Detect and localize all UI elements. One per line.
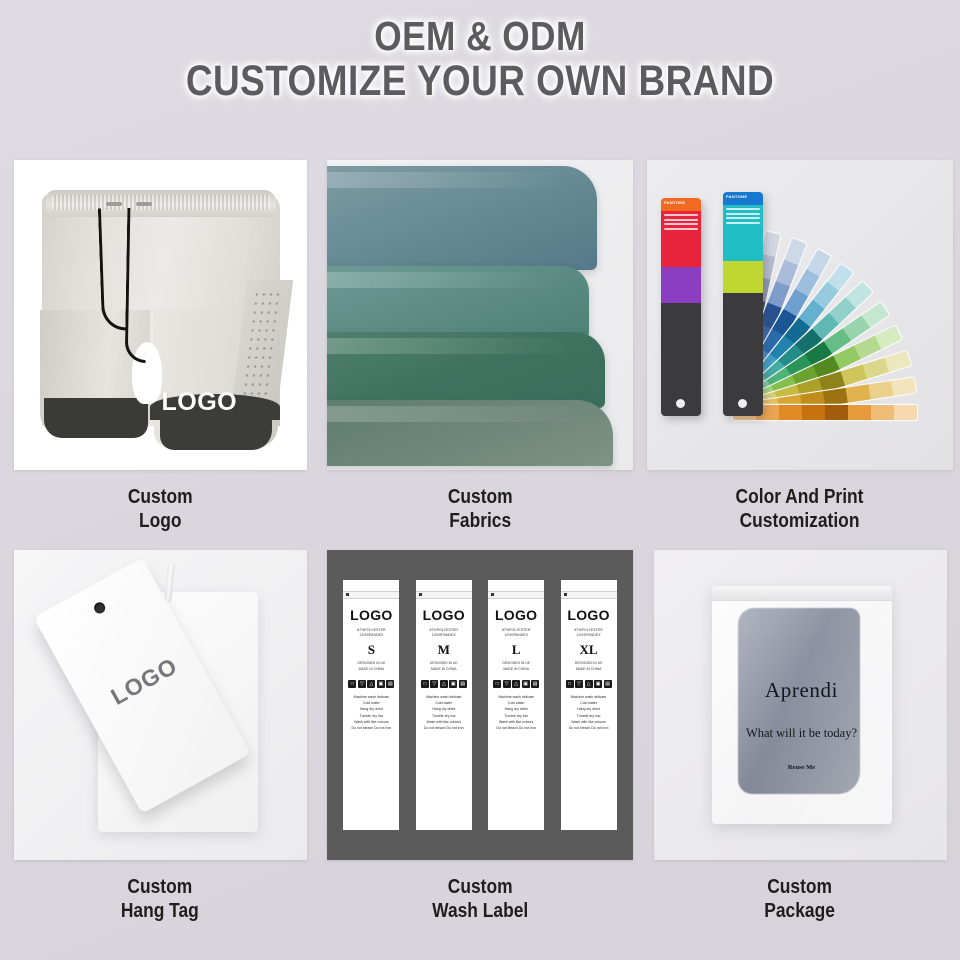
booklet-text-lines	[723, 205, 763, 227]
caption-custom-fabrics: Custom Fabrics	[448, 485, 513, 534]
caption-custom-hang-tag: Custom Hang Tag	[121, 875, 199, 924]
iron-icon: ▤	[459, 680, 467, 688]
do-not-bleach-icon: △	[512, 680, 520, 688]
caption-line1: Custom	[121, 875, 199, 899]
label-care-instructions: Machine wash delicateCold waterHang dry …	[424, 694, 464, 732]
label-origin: DESIGNED IN UKMADE IN CHINA	[358, 661, 386, 671]
wash-tub-icon: □	[566, 680, 574, 688]
do-not-bleach-icon: △	[585, 680, 593, 688]
label-care-symbols: □▽△▣▤	[493, 680, 539, 688]
caption-color-and-print: Color And Print Customization	[736, 485, 864, 534]
label-logo: LOGO	[495, 607, 537, 623]
fabric-stack-illustration	[327, 160, 633, 470]
label-size: L	[512, 642, 521, 658]
custom-fabrics-image	[327, 160, 633, 470]
label-logo: LOGO	[423, 607, 465, 623]
hand-wash-icon: ▽	[358, 680, 366, 688]
frosted-film-overlay	[712, 586, 892, 824]
custom-logo-image: LOGO	[14, 160, 307, 470]
caption-line2: Wash Label	[432, 899, 528, 923]
label-origin: DESIGNED IN UKMADE IN CHINA	[575, 661, 603, 671]
hand-wash-icon: ▽	[503, 680, 511, 688]
hand-wash-icon: ▽	[430, 680, 438, 688]
label-fiber-content: 87%POLYESTER13%SPANDEX	[574, 628, 603, 638]
label-top-bar	[343, 591, 399, 599]
pantone-booklet-warm: PANTONE	[661, 198, 701, 416]
label-care-symbols: □▽△▣▤	[421, 680, 467, 688]
booklet-band-purple	[661, 267, 701, 303]
label-origin: DESIGNED IN UKMADE IN CHINA	[430, 661, 458, 671]
label-logo: LOGO	[567, 607, 609, 623]
label-origin: DESIGNED IN UKMADE IN CHINA	[502, 661, 530, 671]
wash-label-illustration: LOGO87%POLYESTER13%SPANDEXSDESIGNED IN U…	[327, 550, 633, 860]
fabric-fold-2	[327, 266, 589, 338]
wash-label-l: LOGO87%POLYESTER13%SPANDEXLDESIGNED IN U…	[488, 580, 544, 830]
caption-custom-package: Custom Package	[765, 875, 836, 924]
hang-tag-hole	[91, 601, 106, 616]
booklet-cap-blue: PANTONE	[723, 192, 763, 205]
shorts-waistband	[46, 190, 276, 217]
label-care-instructions: Machine wash delicateCold waterHang dry …	[569, 694, 609, 732]
caption-line1: Custom	[765, 875, 836, 899]
shorts-logo-print: LOGO	[162, 388, 238, 417]
caption-line2: Customization	[736, 509, 864, 533]
booklet-cap-orange: PANTONE	[661, 198, 701, 211]
wash-tub-icon: □	[348, 680, 356, 688]
oem-odm-banner: OEM & ODM CUSTOMIZE YOUR OWN BRAND	[0, 0, 960, 960]
label-fiber-content: 87%POLYESTER13%SPANDEX	[357, 628, 386, 638]
pantone-wordmark: PANTONE	[723, 192, 763, 199]
shorts-drawstring-left	[97, 208, 126, 332]
booklet-hinge-dot	[738, 399, 747, 408]
label-size: XL	[580, 642, 598, 658]
pantone-booklet-cool: PANTONE	[723, 192, 763, 416]
label-care-instructions: Machine wash delicateCold waterHang dry …	[496, 694, 536, 732]
booklet-band-cyan	[723, 205, 763, 261]
color-print-image: PANTONE PANTONE	[647, 160, 953, 470]
label-fiber-content: 87%POLYESTER13%SPANDEX	[502, 628, 531, 638]
wash-label-m: LOGO87%POLYESTER13%SPANDEXMDESIGNED IN U…	[416, 580, 472, 830]
package-reuse-text: Reuse Me	[712, 764, 892, 771]
shorts-illustration: LOGO	[14, 160, 307, 470]
grid-cell-custom-fabrics: Custom Fabrics	[320, 160, 640, 550]
poly-mailer-bag: Aprendi What will it be today? Reuse Me	[712, 586, 892, 824]
booklet-body-dark	[661, 303, 701, 416]
pantone-fan-deck	[733, 188, 949, 420]
label-top-bar	[561, 591, 617, 599]
iron-icon: ▤	[386, 680, 394, 688]
do-not-tumble-dry-icon: ▣	[377, 680, 385, 688]
iron-icon: ▤	[604, 680, 612, 688]
shorts-liner-left	[44, 398, 148, 438]
caption-line1: Custom	[448, 485, 513, 509]
label-top-bar	[488, 591, 544, 599]
wash-label-xl: LOGO87%POLYESTER13%SPANDEXXLDESIGNED IN …	[561, 580, 617, 830]
grid-cell-custom-logo: LOGO Custom Logo	[0, 160, 320, 550]
wash-label-image: LOGO87%POLYESTER13%SPANDEXSDESIGNED IN U…	[327, 550, 633, 860]
booklet-band-lime	[723, 261, 763, 293]
bag-zip-seal	[712, 586, 892, 601]
fabric-highlight	[327, 272, 559, 288]
hang-tag-front-logo: LOGO	[106, 656, 175, 711]
wash-tub-icon: □	[421, 680, 429, 688]
package-brand-name: Aprendi	[712, 678, 892, 703]
label-care-symbols: □▽△▣▤	[348, 680, 394, 688]
grid-cell-custom-hang-tag: LOGO LOGO Custom Hang Tag	[0, 550, 320, 940]
caption-custom-wash-label: Custom Wash Label	[432, 875, 528, 924]
header-title-line2: CUSTOMIZE YOUR OWN BRAND	[67, 58, 893, 104]
do-not-tumble-dry-icon: ▣	[449, 680, 457, 688]
grid-cell-color-and-print: PANTONE PANTONE	[640, 160, 960, 550]
hand-wash-icon: ▽	[575, 680, 583, 688]
pantone-illustration: PANTONE PANTONE	[647, 160, 953, 470]
booklet-body-dark	[723, 293, 763, 416]
header-title-line1: OEM & ODM	[67, 14, 893, 58]
label-care-instructions: Machine wash delicateCold waterHang dry …	[352, 694, 392, 732]
fabric-highlight	[327, 338, 575, 354]
fabric-fold-3	[327, 332, 605, 408]
label-top-bar	[416, 591, 472, 599]
label-logo: LOGO	[350, 607, 392, 623]
caption-line1: Color And Print	[736, 485, 864, 509]
shorts-drawstring-right	[124, 208, 148, 363]
wash-label-s: LOGO87%POLYESTER13%SPANDEXSDESIGNED IN U…	[343, 580, 399, 830]
product-grid: LOGO Custom Logo Custom Fabrics	[0, 160, 960, 960]
caption-line2: Fabrics	[448, 509, 513, 533]
label-size: M	[438, 642, 450, 658]
do-not-tumble-dry-icon: ▣	[594, 680, 602, 688]
package-tagline: What will it be today?	[712, 726, 892, 741]
booklet-text-lines	[661, 211, 701, 233]
fabric-fold-4	[327, 400, 613, 466]
hang-tag-illustration: LOGO LOGO	[14, 550, 307, 860]
caption-custom-logo: Custom Logo	[128, 485, 193, 534]
do-not-tumble-dry-icon: ▣	[522, 680, 530, 688]
shorts-eyelet-left	[106, 202, 122, 206]
shorts-eyelet-right	[136, 202, 152, 206]
grid-cell-custom-wash-label: LOGO87%POLYESTER13%SPANDEXSDESIGNED IN U…	[320, 550, 640, 940]
caption-line2: Logo	[128, 509, 193, 533]
hang-tag-image: LOGO LOGO	[14, 550, 307, 860]
do-not-bleach-icon: △	[440, 680, 448, 688]
caption-line2: Package	[765, 899, 836, 923]
do-not-bleach-icon: △	[367, 680, 375, 688]
booklet-band-red	[661, 211, 701, 267]
package-illustration: Aprendi What will it be today? Reuse Me	[654, 550, 947, 860]
caption-line2: Hang Tag	[121, 899, 199, 923]
label-size: S	[368, 642, 375, 658]
fabric-highlight	[327, 172, 567, 188]
caption-line1: Custom	[432, 875, 528, 899]
label-fiber-content: 87%POLYESTER13%SPANDEX	[430, 628, 459, 638]
fabric-highlight	[327, 406, 583, 422]
wash-tub-icon: □	[493, 680, 501, 688]
banner-header: OEM & ODM CUSTOMIZE YOUR OWN BRAND	[0, 14, 960, 105]
iron-icon: ▤	[531, 680, 539, 688]
caption-line1: Custom	[128, 485, 193, 509]
grid-cell-custom-package: Aprendi What will it be today? Reuse Me …	[640, 550, 960, 940]
booklet-hinge-dot	[676, 399, 685, 408]
package-image: Aprendi What will it be today? Reuse Me	[654, 550, 947, 860]
pantone-wordmark: PANTONE	[661, 198, 701, 205]
label-care-symbols: □▽△▣▤	[566, 680, 612, 688]
fabric-fold-1	[327, 166, 597, 270]
